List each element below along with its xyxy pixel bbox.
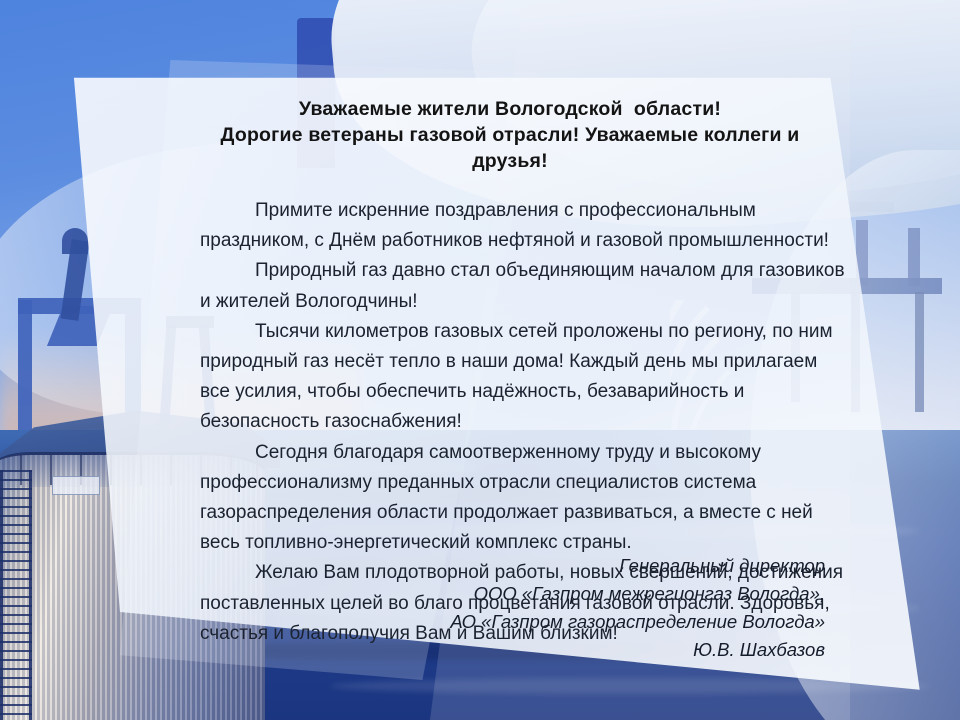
- title-line-2: Дорогие ветераны газовой отрасли! Уважае…: [190, 122, 830, 148]
- signature-company-2: АО «Газпром газораспределение Вологда»: [305, 608, 825, 636]
- paragraph: Природный газ давно стал объединяющим на…: [200, 256, 848, 316]
- paragraph: Примите искренние поздравления с професс…: [200, 196, 848, 256]
- content: Уважаемые жители Вологодской области! До…: [0, 0, 960, 720]
- paragraph: Тысячи километров газовых сетей проложен…: [200, 317, 848, 438]
- signature-name: Ю.В. Шахбазов: [305, 636, 825, 664]
- signature-company-1: ООО «Газпром межрегионгаз Вологда»,: [305, 580, 825, 608]
- signature-position: Генеральный директор: [305, 552, 825, 580]
- title-line-1: Уважаемые жители Вологодской области!: [190, 96, 830, 122]
- paragraph: Сегодня благодаря самоотверженному труду…: [200, 438, 848, 559]
- poster: Уважаемые жители Вологодской области! До…: [0, 0, 960, 720]
- page-title: Уважаемые жители Вологодской области! До…: [190, 96, 830, 174]
- signature-block: Генеральный директор ООО «Газпром межрег…: [305, 552, 825, 664]
- title-line-3: друзья!: [190, 148, 830, 174]
